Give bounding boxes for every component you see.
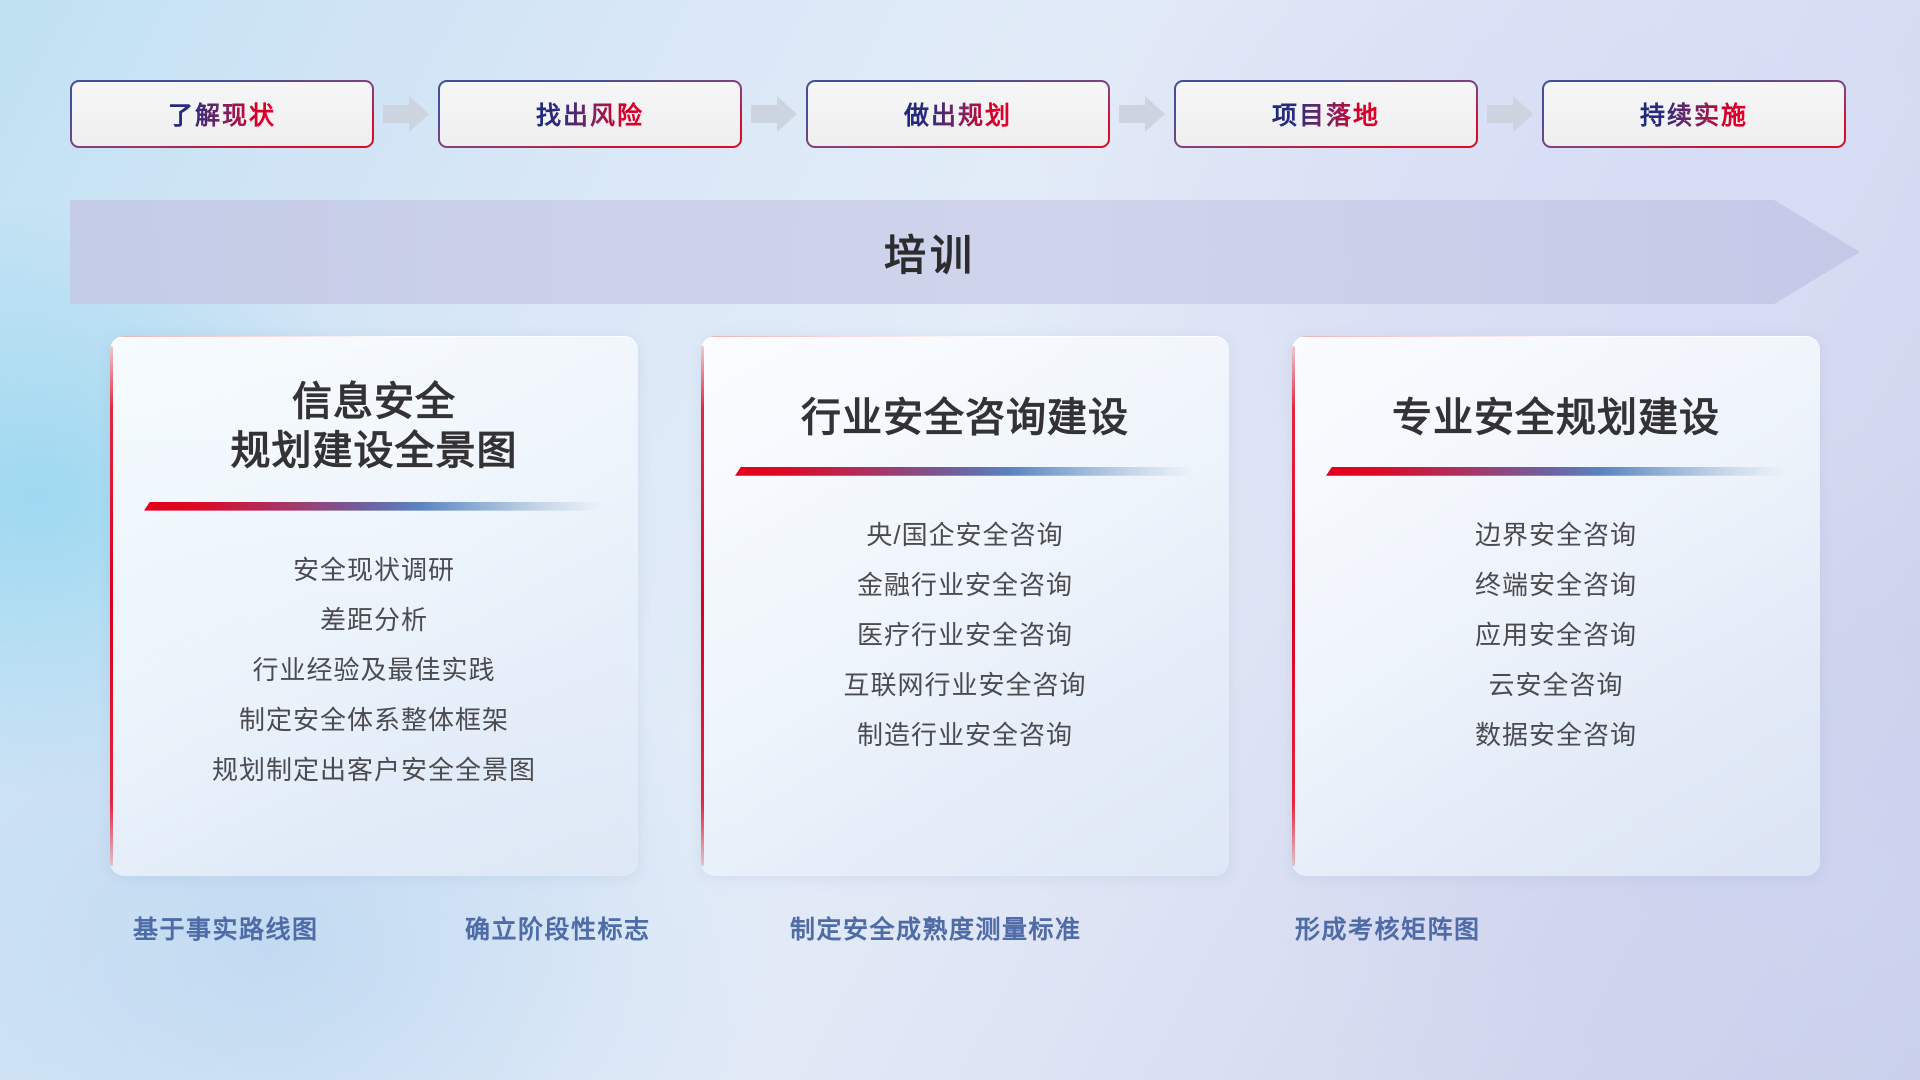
card-divider xyxy=(1326,467,1784,476)
list-item: 制造行业安全咨询 xyxy=(725,710,1205,760)
list-item: 数据安全咨询 xyxy=(1316,710,1796,760)
card-item-list: 央/国企安全咨询 金融行业安全咨询 医疗行业安全咨询 互联网行业安全咨询 制造行… xyxy=(725,510,1205,760)
bottom-label-row: 基于事实路线图 确立阶段性标志 制定安全成熟度测量标准 形成考核矩阵图 xyxy=(0,910,1920,970)
list-item: 规划制定出客户安全全景图 xyxy=(134,745,614,795)
list-item: 边界安全咨询 xyxy=(1316,510,1796,560)
chevron-right-arrow-icon xyxy=(374,89,438,139)
card-divider xyxy=(735,467,1193,476)
chevron-right-arrow-icon xyxy=(742,89,806,139)
list-item: 医疗行业安全咨询 xyxy=(725,610,1205,660)
list-item: 行业经验及最佳实践 xyxy=(134,645,614,695)
list-item: 差距分析 xyxy=(134,595,614,645)
bottom-label-3: 形成考核矩阵图 xyxy=(1295,910,1481,946)
card-row: 信息安全 规划建设全景图 安全现状调研 差距分析 行业经验及最佳实践 制定安全体… xyxy=(110,336,1820,876)
list-item: 制定安全体系整体框架 xyxy=(134,695,614,745)
bottom-label-0: 基于事实路线图 xyxy=(133,910,319,946)
card-item-list: 边界安全咨询 终端安全咨询 应用安全咨询 云安全咨询 数据安全咨询 xyxy=(1316,510,1796,760)
card-title: 专业安全规划建设 xyxy=(1322,394,1790,443)
process-step-0[interactable]: 了解现状 xyxy=(70,80,374,148)
process-step-row: 了解现状 找出风险 做出规划 项目落地 xyxy=(70,78,1850,150)
training-banner: 培训 xyxy=(70,200,1860,304)
process-step-1-label: 找出风险 xyxy=(536,96,644,132)
process-step-4-label: 持续实施 xyxy=(1640,96,1748,132)
process-step-2-label: 做出规划 xyxy=(904,96,1012,132)
chevron-right-arrow-icon xyxy=(1110,89,1174,139)
card-professional-security-planning[interactable]: 专业安全规划建设 边界安全咨询 终端安全咨询 应用安全咨询 云安全咨询 数据安全… xyxy=(1292,336,1820,876)
process-step-1-inner: 找出风险 xyxy=(440,82,740,146)
bottom-label-2: 制定安全成熟度测量标准 xyxy=(790,910,1082,946)
card-title: 信息安全 规划建设全景图 xyxy=(140,378,608,476)
bottom-label-1: 确立阶段性标志 xyxy=(465,910,651,946)
list-item: 央/国企安全咨询 xyxy=(725,510,1205,560)
list-item: 安全现状调研 xyxy=(134,545,614,595)
list-item: 金融行业安全咨询 xyxy=(725,560,1205,610)
card-item-list: 安全现状调研 差距分析 行业经验及最佳实践 制定安全体系整体框架 规划制定出客户… xyxy=(134,545,614,795)
process-step-4-inner: 持续实施 xyxy=(1544,82,1844,146)
process-step-3-inner: 项目落地 xyxy=(1176,82,1476,146)
card-industry-security-consulting[interactable]: 行业安全咨询建设 央/国企安全咨询 金融行业安全咨询 医疗行业安全咨询 互联网行… xyxy=(701,336,1229,876)
list-item: 应用安全咨询 xyxy=(1316,610,1796,660)
process-step-3-label: 项目落地 xyxy=(1272,96,1380,132)
list-item: 云安全咨询 xyxy=(1316,660,1796,710)
process-step-1[interactable]: 找出风险 xyxy=(438,80,742,148)
process-step-0-inner: 了解现状 xyxy=(72,82,372,146)
card-divider xyxy=(144,502,602,511)
process-step-3[interactable]: 项目落地 xyxy=(1174,80,1478,148)
chevron-right-arrow-icon xyxy=(1478,89,1542,139)
infographic-canvas: 了解现状 找出风险 做出规划 项目落地 xyxy=(0,0,1920,1080)
card-title: 行业安全咨询建设 xyxy=(731,394,1199,443)
process-step-4[interactable]: 持续实施 xyxy=(1542,80,1846,148)
card-information-security-blueprint[interactable]: 信息安全 规划建设全景图 安全现状调研 差距分析 行业经验及最佳实践 制定安全体… xyxy=(110,336,638,876)
process-step-2-inner: 做出规划 xyxy=(808,82,1108,146)
list-item: 终端安全咨询 xyxy=(1316,560,1796,610)
banner-title: 培训 xyxy=(70,200,1860,304)
process-step-2[interactable]: 做出规划 xyxy=(806,80,1110,148)
list-item: 互联网行业安全咨询 xyxy=(725,660,1205,710)
process-step-0-label: 了解现状 xyxy=(168,96,276,132)
